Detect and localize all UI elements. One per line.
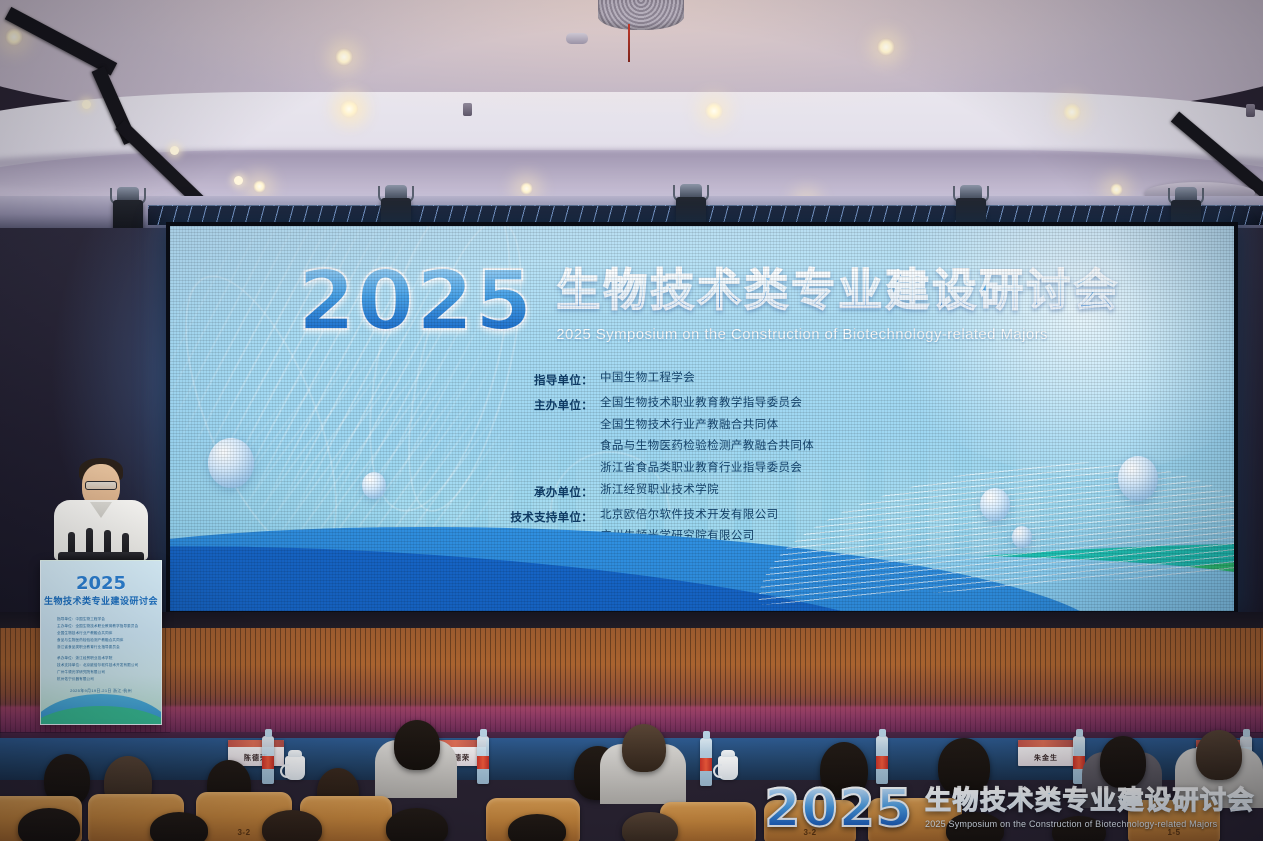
organizer-value: 食品与生物医药检验检测产教融合共同体: [600, 440, 814, 453]
ceiling-fixture: [463, 103, 472, 116]
organizer-value: 全国生物技术职业教育教学指导委员会: [600, 397, 814, 410]
podium-organizers: 指导单位：中国生物工程学会 主办单位：全国生物技术职业教育教学指导委员会 全国生…: [57, 617, 153, 682]
decorative-sphere: [1012, 526, 1032, 548]
podium-org-line: 主办单位：全国生物技术职业教育教学指导委员会: [57, 624, 153, 629]
screen-title-en: 2025 Symposium on the Construction of Bi…: [556, 326, 1120, 343]
decorative-sphere: [208, 438, 254, 488]
ceiling-downlight: [1063, 103, 1081, 121]
truss-light: [170, 146, 179, 155]
audience-head: [150, 812, 208, 841]
ceiling-downlight: [253, 180, 266, 193]
water-bottle: [262, 736, 274, 784]
podium-org-line: 食品与生物医药检验检测产教融合共同体: [57, 638, 153, 643]
water-bottle: [700, 738, 712, 786]
audience-head: [1196, 730, 1242, 780]
water-bottle: [477, 736, 489, 784]
tea-cup: [718, 756, 738, 780]
sprinkler-rod: [628, 24, 630, 62]
glasses-icon: [85, 481, 117, 490]
audience-head: [262, 810, 322, 841]
decorative-sphere: [980, 488, 1010, 521]
audience-head: [18, 808, 80, 841]
podium-org-line: 全国生物技术行业产教融合共同体: [57, 631, 153, 636]
audience-seat: 3-2: [764, 800, 856, 841]
podium-year: 2025: [41, 573, 161, 594]
audience-head: [622, 724, 666, 772]
ceiling-fixture: [1246, 104, 1255, 117]
screen-year: 2025: [298, 264, 534, 339]
truss-light: [82, 100, 91, 109]
decorative-sphere: [362, 472, 386, 499]
audience-head: [938, 738, 990, 796]
name-placard: 朱金生: [1018, 740, 1074, 766]
audience-head: [508, 814, 566, 841]
audience-head: [394, 720, 440, 770]
screen-headline: 2025 生物技术类专业建设研讨会 2025 Symposium on the …: [298, 264, 1120, 343]
seat-number: 3-2: [237, 828, 250, 837]
ceiling-vent-icon: [598, 0, 684, 30]
ceiling-downlight: [5, 28, 23, 46]
podium-org-line: 指导单位：中国生物工程学会: [57, 617, 153, 622]
screen-wave-graphics: [170, 461, 1234, 611]
led-stage-screen: 2025 生物技术类专业建设研讨会 2025 Symposium on the …: [166, 222, 1238, 615]
podium-title: 生物技术类专业建设研讨会: [41, 594, 161, 607]
seat-number: 1-5: [1167, 828, 1180, 837]
audience-head: [820, 742, 868, 798]
ceiling-downlight: [1110, 183, 1123, 196]
organizer-label: 指导单位：: [492, 372, 600, 388]
audience-area: 陈德荣 陈德荣 朱金生 陈振杰: [0, 716, 1263, 841]
organizer-value: 全国生物技术行业产教融合共同体: [600, 419, 814, 432]
conference-hall-photo: 2025 生物技术类专业建设研讨会 2025 Symposium on the …: [0, 0, 1263, 841]
truss-light: [234, 176, 243, 185]
ceiling-downlight: [705, 102, 723, 120]
audience-head: [622, 812, 678, 841]
ceiling-downlight: [877, 38, 895, 56]
tea-cup: [285, 756, 305, 780]
screen-title-cn: 生物技术类专业建设研讨会: [556, 268, 1120, 315]
smoke-detector-icon: [566, 33, 588, 44]
seat-number: 3-2: [803, 828, 816, 837]
water-bottle: [876, 736, 888, 784]
audience-head: [1100, 736, 1146, 788]
placard-name: 朱金生: [1018, 753, 1074, 763]
organizer-value: 中国生物工程学会: [600, 372, 695, 385]
podium-panel: 2025 生物技术类专业建设研讨会 指导单位：中国生物工程学会 主办单位：全国生…: [40, 560, 162, 725]
podium-org-line: 承办单位：浙江经贸职业技术学院: [57, 656, 153, 661]
organizer-row: 指导单位： 中国生物工程学会: [492, 372, 912, 388]
podium-org-line: 杭州佑宁仪器有限公司: [57, 677, 153, 682]
audience-head: [1052, 816, 1106, 841]
audience-head: [946, 812, 1004, 841]
audience-seat: 1-5: [1128, 800, 1220, 841]
decorative-sphere: [1118, 456, 1158, 501]
ceiling-downlight: [335, 48, 353, 66]
podium-org-line: 技术支持单位：北京欧倍尔软件技术开发有限公司: [57, 663, 153, 668]
podium-org-line: 广州牛顿光学研究院有限公司: [57, 670, 153, 675]
screen-surface: 2025 生物技术类专业建设研讨会 2025 Symposium on the …: [170, 226, 1234, 611]
ceiling-downlight: [340, 100, 358, 118]
ceiling-downlight: [520, 182, 533, 195]
audience-head: [386, 808, 448, 841]
podium-and-speaker: 2025 生物技术类专业建设研讨会 指导单位：中国生物工程学会 主办单位：全国生…: [36, 452, 166, 727]
podium-org-line: 浙江省食品类职业教育行业指导委员会: [57, 645, 153, 650]
